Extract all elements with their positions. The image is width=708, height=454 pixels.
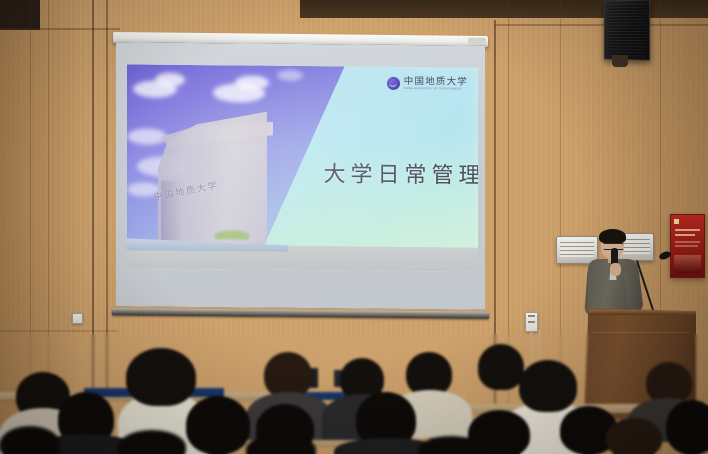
ceiling-speaker-icon	[604, 0, 650, 61]
poster-line	[675, 234, 695, 236]
podium-panel-line	[592, 332, 688, 333]
audience-head	[519, 360, 577, 412]
outlet-slot	[528, 315, 535, 317]
presenter-hand	[610, 263, 621, 276]
poster-line	[675, 241, 700, 243]
cug-emblem-icon	[387, 77, 400, 90]
presenter-hair	[599, 229, 626, 244]
ceiling-soffit-left	[0, 0, 40, 30]
wall-outlet-upper[interactable]	[525, 312, 538, 332]
wall-seam-mid	[0, 330, 118, 332]
screen-frame: 中国地质大学 大学日常管理 中国地质大学 CHINA UNIVERSITY OF…	[116, 42, 485, 310]
poster-emblem	[674, 219, 679, 224]
projection-screen: 中国地质大学 大学日常管理 中国地质大学 CHINA UNIVERSITY OF…	[113, 34, 488, 318]
screen-weight-bar[interactable]	[112, 308, 489, 319]
wall-seam-right	[495, 24, 708, 26]
vent-louvers	[560, 242, 594, 257]
audience-head	[0, 426, 60, 454]
cloud-icon	[155, 73, 185, 87]
audience-head	[606, 418, 662, 454]
slide-title: 大学日常管理	[324, 156, 478, 190]
poster-image	[674, 255, 701, 273]
wall-seam	[0, 28, 120, 30]
logo-institution-en: CHINA UNIVERSITY OF GEOSCIENCES	[404, 88, 468, 91]
audience-head	[666, 400, 708, 454]
speaker-grill	[608, 4, 646, 57]
slide-logo: 中国地质大学 CHINA UNIVERSITY OF GEOSCIENCES	[387, 77, 468, 91]
audience-head	[126, 348, 196, 406]
red-poster	[670, 214, 705, 278]
audience-head	[186, 396, 250, 454]
outlet-slot	[528, 321, 535, 323]
cloud-icon	[235, 75, 269, 89]
logo-institution-cn: 中国地质大学	[404, 77, 468, 87]
shrub	[215, 230, 249, 239]
speaker-mount-bracket	[612, 55, 628, 67]
poster-line	[675, 245, 698, 247]
logo-text-block: 中国地质大学 CHINA UNIVERSITY OF GEOSCIENCES	[404, 77, 468, 91]
cloud-icon	[277, 70, 303, 81]
poster-line	[675, 229, 700, 231]
cloud-icon	[127, 128, 167, 144]
wall-panel-edge	[92, 0, 94, 454]
roller-end-cap	[468, 38, 486, 45]
wall-panel-edge	[106, 0, 108, 454]
lecture-hall-photo: 中国地质大学 大学日常管理 中国地质大学 CHINA UNIVERSITY OF…	[0, 0, 708, 454]
wall-outlet-left[interactable]	[72, 313, 83, 324]
projected-slide: 中国地质大学 大学日常管理 中国地质大学 CHINA UNIVERSITY OF…	[127, 64, 478, 271]
audience-head	[478, 344, 524, 390]
